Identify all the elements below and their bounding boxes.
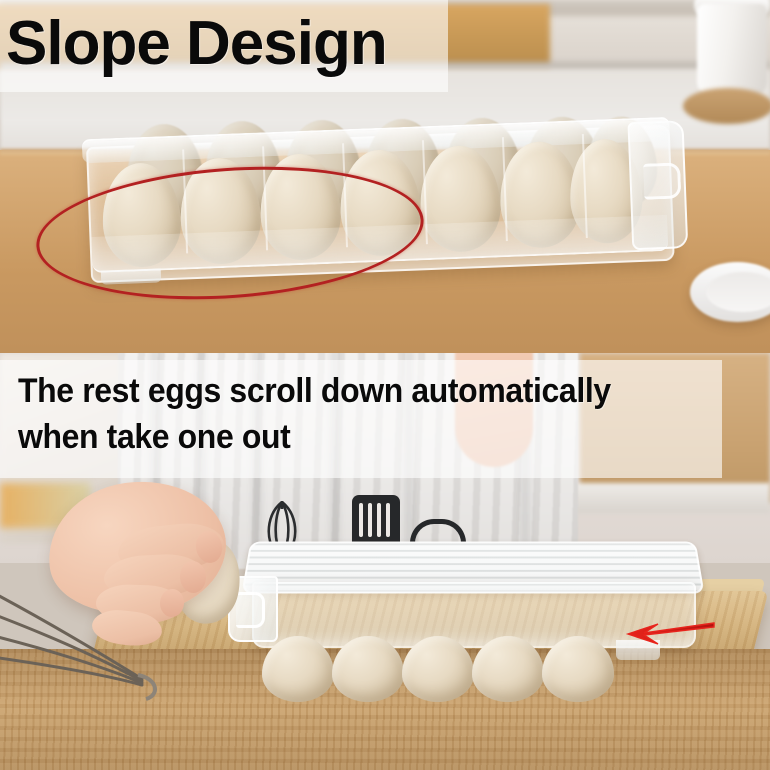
container-end-hook xyxy=(643,162,681,199)
caption-line-2: when take one out xyxy=(18,418,290,457)
ceramic-jar xyxy=(697,4,767,96)
egg xyxy=(332,636,404,702)
wooden-coaster xyxy=(683,88,770,124)
direction-arrow-annotation xyxy=(618,618,718,648)
egg xyxy=(402,636,474,702)
whisk-icon xyxy=(262,499,298,543)
egg xyxy=(542,636,614,702)
caption-banner: The rest eggs scroll down automatically … xyxy=(0,360,722,478)
caption-line-1: The rest eggs scroll down automatically xyxy=(18,372,611,411)
background-counter xyxy=(575,483,770,513)
page-title: Slope Design xyxy=(6,0,387,90)
container-clip xyxy=(236,592,265,628)
egg xyxy=(472,636,544,702)
infographic-canvas: Slope Design xyxy=(0,0,770,770)
egg-container-bottom xyxy=(238,540,708,670)
white-plate-inner xyxy=(706,272,770,312)
bottom-panel: The rest eggs scroll down automatically … xyxy=(0,353,770,770)
title-banner: Slope Design xyxy=(0,0,448,92)
top-panel: Slope Design xyxy=(0,0,770,353)
egg xyxy=(262,636,334,702)
